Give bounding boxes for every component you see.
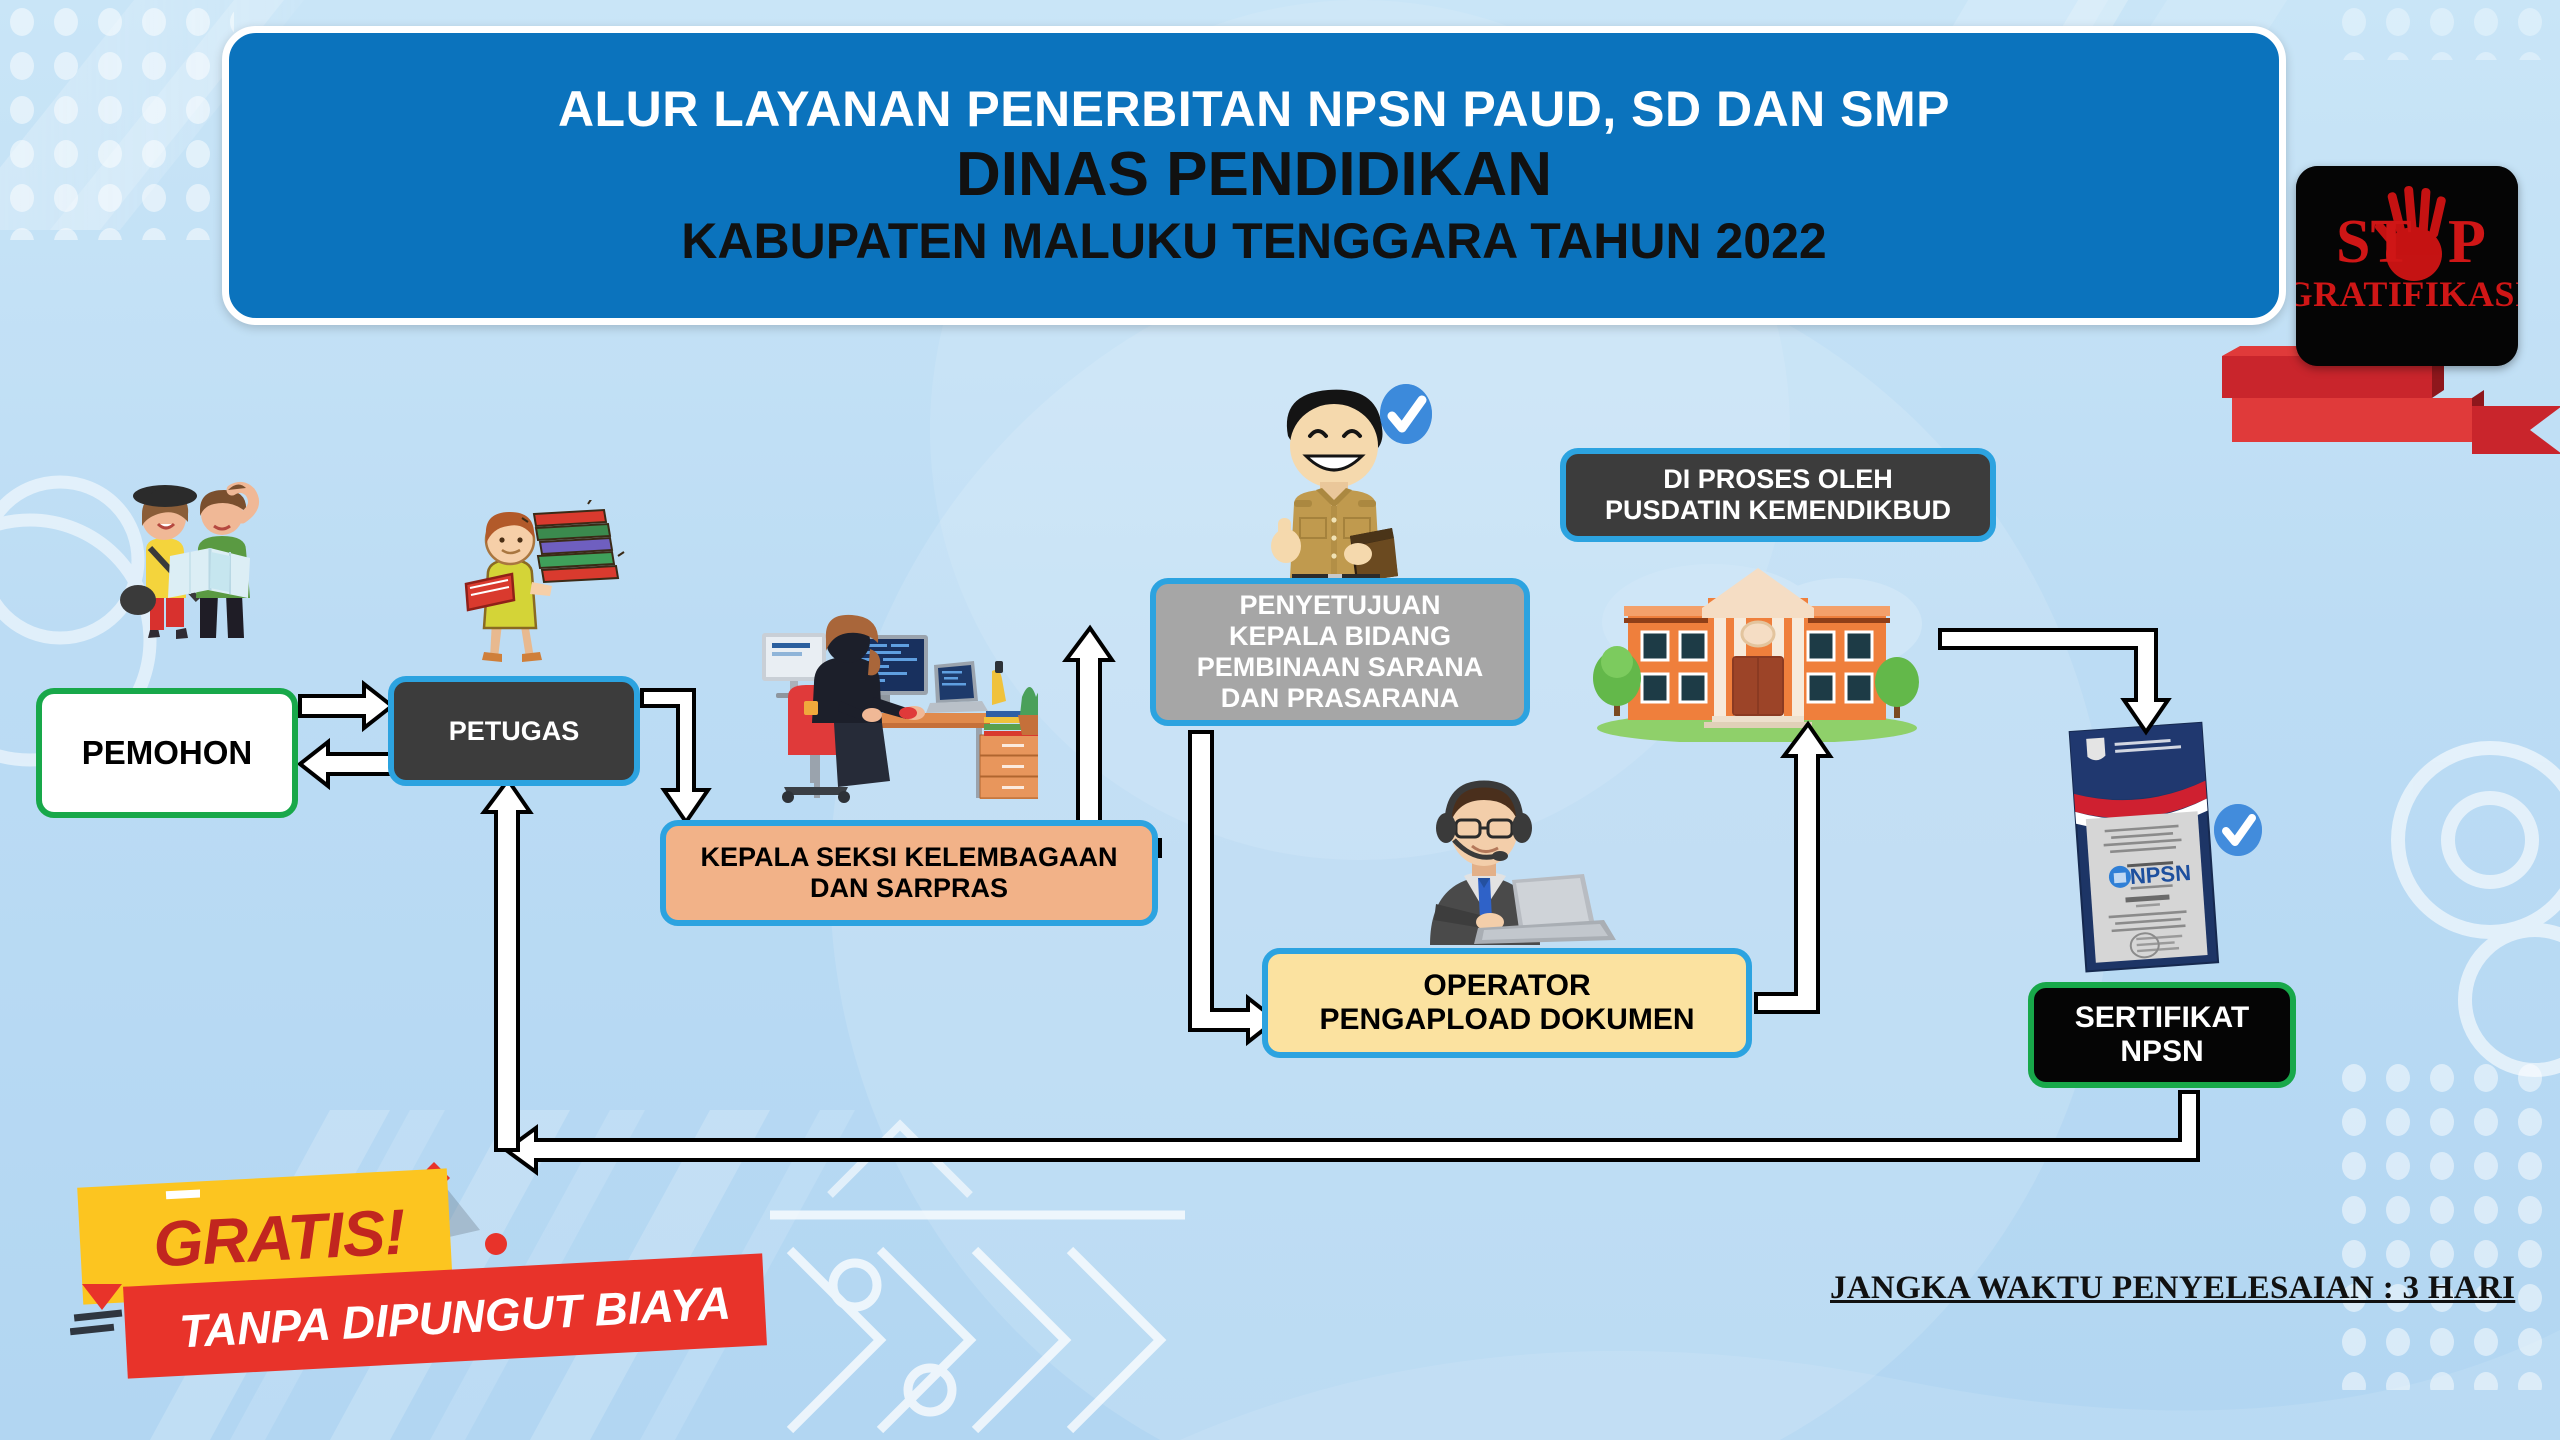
arrow-return-to-petugas [484,780,530,1150]
flow-node-pemohon[interactable]: PEMOHON [36,688,298,818]
flow-node-penyetujuan[interactable]: PENYETUJUAN KEPALA BIDANG PEMBINAAN SARA… [1150,578,1530,726]
infographic-canvas: ALUR LAYANAN PENERBITAN NPSN PAUD, SD DA… [0,0,2560,1440]
flow-node-pemohon-label: PEMOHON [82,734,253,772]
flow-node-penyetujuan-line1: PENYETUJUAN [1239,590,1440,621]
flow-node-kepala-seksi-line1: KEPALA SEKSI KELEMBAGAAN [700,842,1117,873]
jangka-waktu-note: JANGKA WAKTU PENYELESAIAN : 3 HARI [1830,1270,2515,1307]
gratis-label: GRATIS! [112,1183,446,1292]
flow-node-pusdatin-line2: PUSDATIN KEMENDIKBUD [1605,495,1951,526]
flow-node-operator[interactable]: OPERATOR PENGAPLOAD DOKUMEN [1262,948,1752,1058]
flow-node-petugas-label: PETUGAS [449,716,580,747]
arrow-pemohon-to-petugas [300,684,392,728]
flow-node-petugas[interactable]: PETUGAS [388,676,640,786]
flow-node-operator-line1: OPERATOR [1423,969,1590,1003]
flow-node-sertifikat-line1: SERTIFIKAT [2075,1001,2249,1035]
flow-node-pusdatin-line1: DI PROSES OLEH [1663,464,1893,495]
flow-node-kepala-seksi[interactable]: KEPALA SEKSI KELEMBAGAAN DAN SARPRAS [660,820,1158,926]
gratis-badge: GRATIS! TANPA DIPUNGUT BIAYA [70,1170,770,1390]
flow-node-sertifikat-line2: NPSN [2120,1035,2203,1069]
flow-node-operator-line2: PENGAPLOAD DOKUMEN [1319,1003,1694,1037]
flow-node-penyetujuan-line3: PEMBINAAN SARANA [1197,652,1484,683]
flow-node-penyetujuan-line4: DAN PRASARANA [1221,683,1460,714]
flow-node-kepala-seksi-line2: DAN SARPRAS [810,873,1008,904]
arrow-operator-to-pusdatin [1756,724,1830,1012]
flow-node-penyetujuan-line2: KEPALA BIDANG [1229,621,1451,652]
flow-node-pusdatin[interactable]: DI PROSES OLEH PUSDATIN KEMENDIKBUD [1560,448,1996,542]
flow-node-sertifikat[interactable]: SERTIFIKAT NPSN [2028,982,2296,1088]
arrow-petugas-to-kepala-seksi [642,690,708,822]
arrow-petugas-to-pemohon [300,742,392,786]
arrow-building-to-certificate [1940,630,2168,732]
